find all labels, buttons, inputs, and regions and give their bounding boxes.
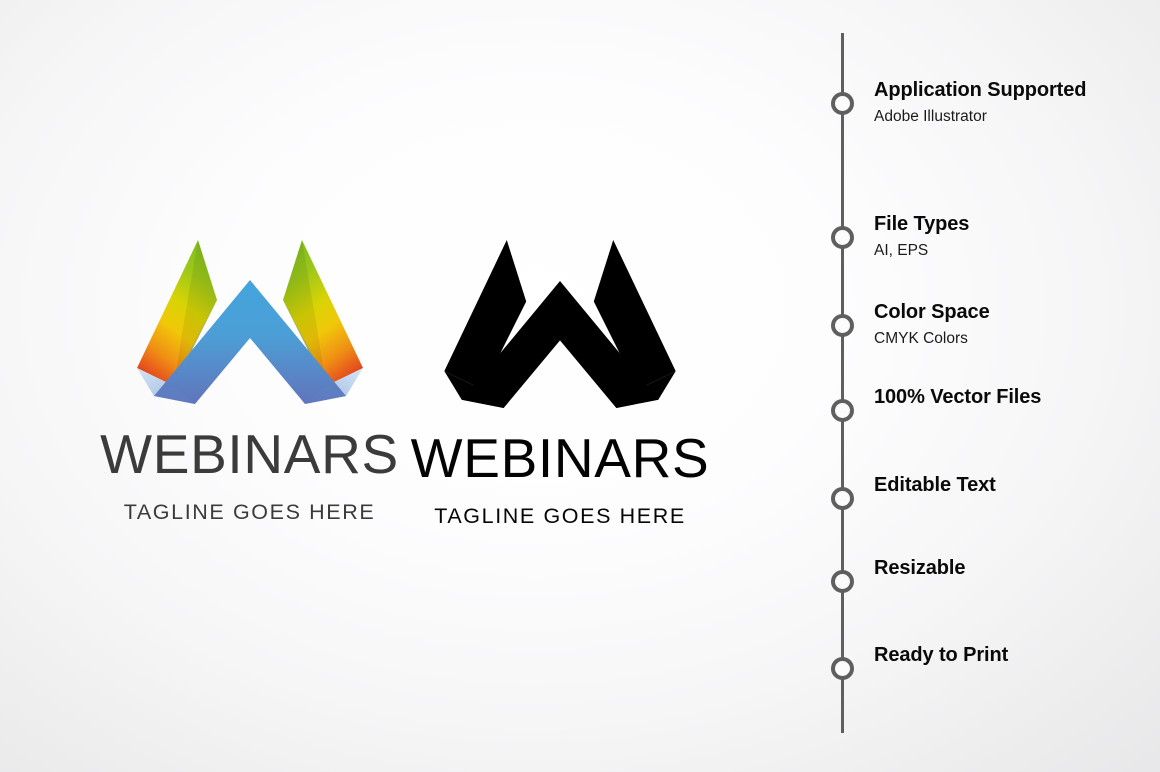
spec-title: Application Supported xyxy=(874,79,1160,101)
logo-tagline: TAGLINE GOES HERE xyxy=(72,502,427,524)
spec-text-group: Editable Text xyxy=(874,474,1160,496)
logo-preview-black: WEBINARS TAGLINE GOES HERE xyxy=(400,238,720,528)
spec-text-group: File Types AI, EPS xyxy=(874,213,1160,259)
logo-wordmark: WEBINARS xyxy=(72,427,427,482)
webinars-w-mark-black-icon xyxy=(436,238,684,410)
timeline-dot-icon xyxy=(831,92,854,115)
logo-preview-color: WEBINARS TAGLINE GOES HERE xyxy=(72,238,427,524)
spec-title: Color Space xyxy=(874,301,1160,323)
logo-wordmark: WEBINARS xyxy=(400,431,720,486)
timeline-dot-icon xyxy=(831,487,854,510)
spec-text-group: Color Space CMYK Colors xyxy=(874,301,1160,347)
spec-subtitle: CMYK Colors xyxy=(874,330,1160,347)
spec-text-group: Application Supported Adobe Illustrator xyxy=(874,79,1160,125)
timeline-dot-icon xyxy=(831,399,854,422)
spec-subtitle: Adobe Illustrator xyxy=(874,108,1160,125)
spec-subtitle: AI, EPS xyxy=(874,242,1160,259)
spec-text-group: 100% Vector Files xyxy=(874,386,1160,408)
logo-showcase: WEBINARS TAGLINE GOES HERE WEBINARS TAGL… xyxy=(0,0,820,772)
timeline-dot-icon xyxy=(831,226,854,249)
timeline-dot-icon xyxy=(831,657,854,680)
timeline-dot-icon xyxy=(831,570,854,593)
spec-title: Resizable xyxy=(874,557,1160,579)
spec-title: Ready to Print xyxy=(874,644,1160,666)
logo-tagline: TAGLINE GOES HERE xyxy=(400,506,720,528)
spec-text-group: Resizable xyxy=(874,557,1160,579)
spec-text-group: Ready to Print xyxy=(874,644,1160,666)
specs-timeline: Application Supported Adobe Illustrator … xyxy=(820,0,1160,772)
spec-title: File Types xyxy=(874,213,1160,235)
timeline-dot-icon xyxy=(831,314,854,337)
spec-title: 100% Vector Files xyxy=(874,386,1160,408)
spec-title: Editable Text xyxy=(874,474,1160,496)
timeline-axis-line xyxy=(841,33,844,733)
webinars-w-mark-color-icon xyxy=(132,238,368,406)
